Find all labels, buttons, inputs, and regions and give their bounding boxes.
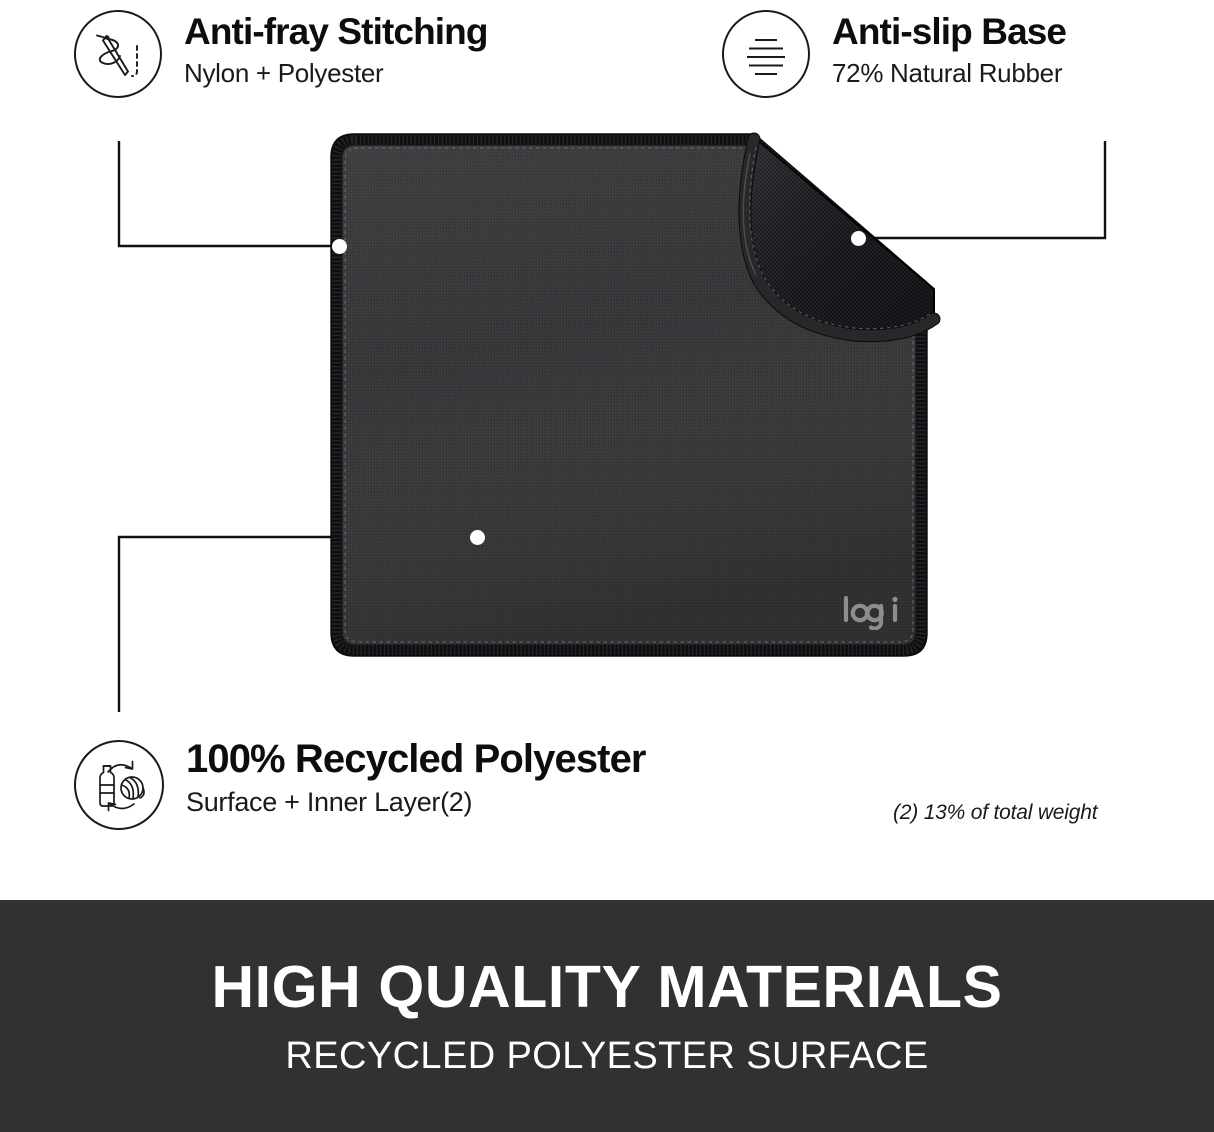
horizontal-lines-icon-circle [722, 10, 810, 98]
needle-thread-icon-circle [74, 10, 162, 98]
horizontal-lines-icon [735, 23, 797, 85]
dashed-stitch-line [132, 46, 137, 76]
logi-logo [843, 596, 899, 630]
recycling-bottle-yarn-icon-circle [74, 740, 164, 830]
feature-subtitle: Nylon + Polyester [184, 57, 488, 90]
feature-anti-slip-base: Anti-slip Base 72% Natural Rubber [722, 10, 1066, 98]
feature-title: Anti-slip Base [832, 12, 1066, 51]
footnote-text: (2) 13% of total weight [893, 801, 1097, 825]
banner-subtitle: RECYCLED POLYESTER SURFACE [285, 1037, 928, 1075]
needle-thread-icon [87, 23, 149, 85]
mouse-pad-product-image [330, 133, 936, 657]
feature-text-block: Anti-slip Base 72% Natural Rubber [832, 10, 1066, 90]
callout-dot-antislip [851, 231, 866, 246]
feature-recycled-polyester: 100% Recycled Polyester Surface + Inner … [74, 736, 646, 830]
feature-title: 100% Recycled Polyester [186, 738, 646, 780]
callout-dot-stitching [332, 239, 347, 254]
banner-title: HIGH QUALITY MATERIALS [211, 958, 1002, 1017]
feature-anti-fray-stitching: Anti-fray Stitching Nylon + Polyester [74, 10, 488, 98]
feature-subtitle: Surface + Inner Layer(2) [186, 786, 646, 820]
recycling-bottle-yarn-icon [86, 752, 152, 818]
bottom-banner: HIGH QUALITY MATERIALS RECYCLED POLYESTE… [0, 900, 1214, 1132]
infographic-page: Anti-fray Stitching Nylon + Polyester An… [0, 0, 1214, 1132]
mouse-pad-illustration [330, 133, 936, 657]
callout-dot-recycled [470, 530, 485, 545]
pad-folded-corner [743, 139, 934, 336]
feature-text-block: 100% Recycled Polyester Surface + Inner … [186, 736, 646, 820]
feature-subtitle: 72% Natural Rubber [832, 57, 1066, 90]
feature-text-block: Anti-fray Stitching Nylon + Polyester [184, 10, 488, 90]
feature-title: Anti-fray Stitching [184, 12, 488, 51]
leader-line-stitching [119, 141, 340, 246]
